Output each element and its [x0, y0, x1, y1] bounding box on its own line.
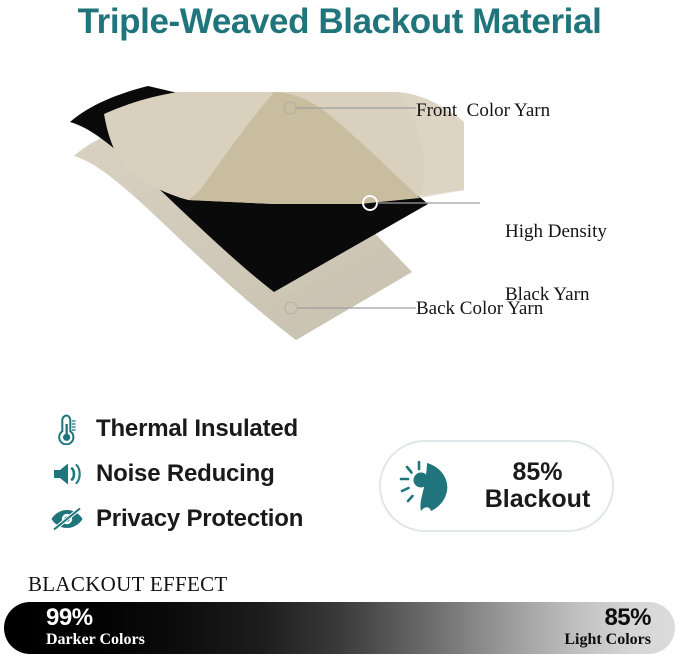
thermometer-icon: [46, 413, 88, 445]
feature-row-thermal-insulated: Thermal Insulated: [46, 406, 356, 451]
eye-slash-icon: [46, 506, 88, 532]
feature-label-noise-reducing: Noise Reducing: [96, 460, 275, 488]
page-title: Triple-Weaved Blackout Material: [0, 2, 679, 42]
blackout-effect-left-group: 99% Darker Colors: [46, 606, 145, 648]
callout-label-line-1: High Density: [505, 221, 607, 242]
feature-row-privacy-protection: Privacy Protection: [46, 496, 356, 541]
callout-label-back-color-yarn: Back Color Yarn: [416, 298, 543, 319]
light-colors-label: Light Colors: [564, 632, 651, 648]
feature-row-noise-reducing: Noise Reducing: [46, 451, 356, 496]
darker-colors-percent: 99%: [46, 606, 145, 630]
blackout-badge: 85% Blackout: [379, 440, 614, 532]
sun-blocked-icon: [391, 455, 469, 517]
feature-label-thermal-insulated: Thermal Insulated: [96, 415, 298, 443]
darker-colors-label: Darker Colors: [46, 632, 145, 648]
blackout-badge-text: 85% Blackout: [469, 459, 612, 513]
feature-list: Thermal Insulated Noise Reducing Privacy…: [46, 406, 356, 541]
blackout-label: Blackout: [469, 486, 606, 513]
blackout-effect-heading: BLACKOUT EFFECT: [28, 572, 228, 597]
blackout-effect-right-group: 85% Light Colors: [564, 606, 651, 648]
light-colors-percent: 85%: [564, 606, 651, 630]
blackout-percent: 85%: [469, 459, 606, 486]
callout-label-front-color-yarn: Front Color Yarn: [416, 100, 550, 121]
feature-label-privacy-protection: Privacy Protection: [96, 505, 303, 533]
speaker-icon: [46, 461, 88, 487]
